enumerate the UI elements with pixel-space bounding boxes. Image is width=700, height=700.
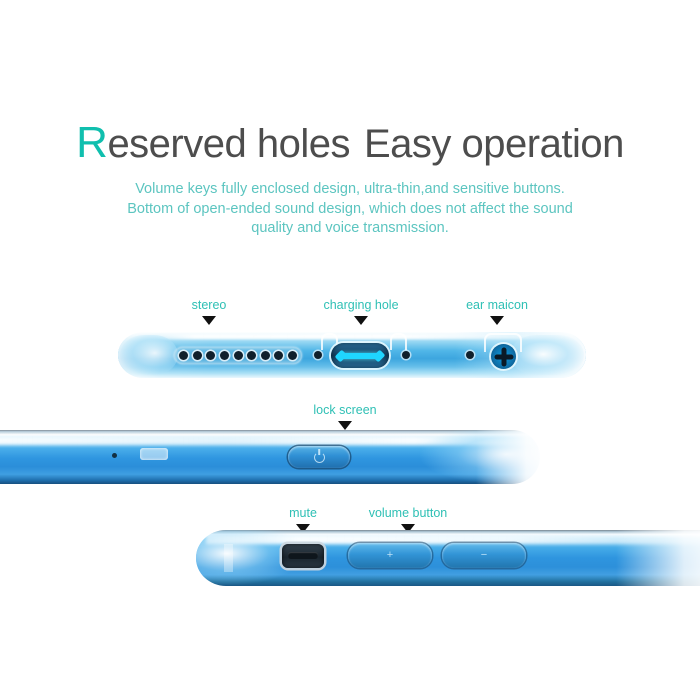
speaker-hole (288, 351, 297, 360)
speaker-hole (179, 351, 188, 360)
headphone-jack (491, 344, 516, 369)
screw-hole-left (314, 351, 322, 359)
annotation-arrow-ear-maicon (490, 316, 504, 325)
phone-bottom-edge-view (118, 328, 586, 386)
speaker-hole (261, 351, 270, 360)
screw-hole-right (402, 351, 410, 359)
page-subtitle: Volume keys fully enclosed design, ultra… (0, 180, 700, 239)
mute-switch-slot (288, 552, 318, 559)
annotation-arrow-charging-hole (354, 316, 368, 325)
annotation-label-lock-screen: lock screen (313, 403, 376, 417)
subtitle-line-1: Volume keys fully enclosed design, ultra… (0, 180, 700, 200)
annotation-label-mute: mute (289, 506, 317, 520)
header-section: Reserved holesEasy operation Volume keys… (0, 0, 700, 250)
case-bracket-right (390, 333, 407, 350)
subtitle-line-2: Bottom of open-ended sound design, which… (0, 200, 700, 220)
phone-case-left-corner (120, 335, 178, 375)
star-bar-vertical (501, 347, 506, 366)
case-seam (224, 544, 233, 572)
page-title: Reserved holesEasy operation (0, 118, 700, 168)
annotation-label-charging-hole: charging hole (323, 298, 398, 312)
volume-down-symbol: − (481, 550, 487, 561)
power-icon (314, 452, 325, 463)
headphone-jack-star-icon (494, 347, 514, 367)
phone-case-fade-out (476, 426, 546, 490)
annotation-label-ear-maicon: ear maicon (466, 298, 528, 312)
speaker-hole (247, 351, 256, 360)
speaker-hole (274, 351, 283, 360)
phone-case-fade-out (616, 526, 700, 592)
charging-port (331, 343, 389, 368)
case-seam (140, 448, 168, 460)
speaker-hole (193, 351, 202, 360)
power-button (288, 446, 350, 468)
annotation-arrow-stereo (202, 316, 216, 325)
headline-part-one: eserved holes (107, 122, 350, 166)
headline-accent-letter: R (76, 118, 107, 167)
microphone-hole (466, 351, 474, 359)
volume-up-button: + (348, 543, 432, 568)
headline-part-two: Easy operation (364, 122, 624, 166)
volume-buttons: + − (348, 543, 526, 568)
phone-right-side-view (0, 430, 540, 492)
subtitle-line-3: quality and voice transmission. (0, 219, 700, 239)
annotation-label-volume-button: volume button (369, 506, 448, 520)
annotation-label-stereo: stereo (192, 298, 227, 312)
speaker-grille (174, 347, 302, 364)
volume-up-symbol: + (387, 550, 393, 561)
volume-down-button: − (442, 543, 526, 568)
microphone-hole (112, 453, 117, 458)
speaker-hole (220, 351, 229, 360)
phone-left-side-view: + − (196, 530, 700, 594)
speaker-hole (206, 351, 215, 360)
charging-port-pin (340, 353, 380, 359)
annotation-arrow-lock-screen (338, 421, 352, 430)
mute-switch (282, 544, 324, 568)
speaker-hole (234, 351, 243, 360)
